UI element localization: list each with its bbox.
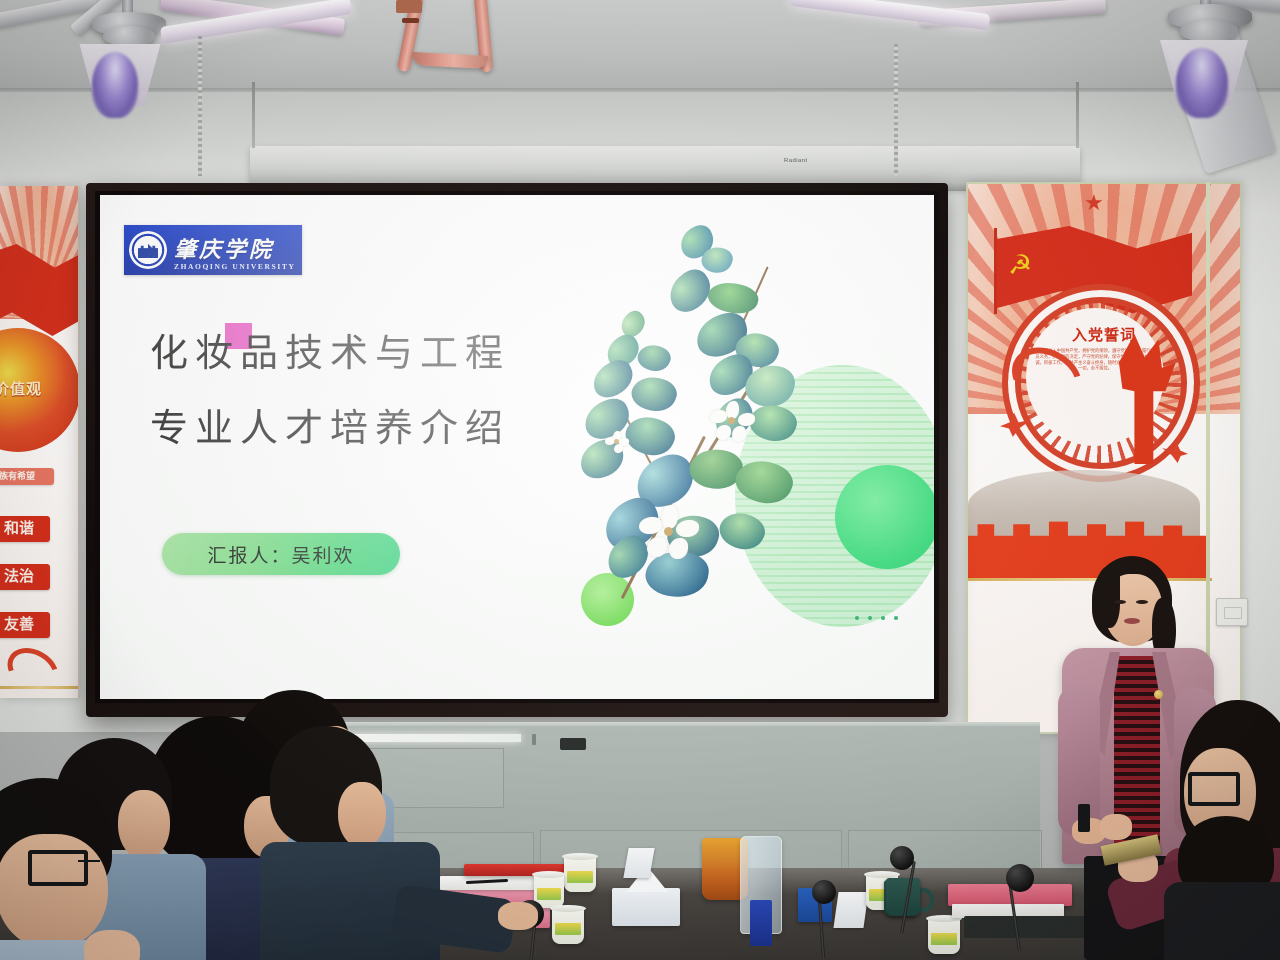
presenter-eye-right <box>1136 600 1148 604</box>
attendee-glasses-bridge <box>78 860 100 862</box>
art-dot <box>855 616 859 620</box>
flower-petal <box>639 517 662 534</box>
notepad <box>440 876 536 890</box>
attendee-glasses <box>1188 772 1240 806</box>
paper-cup <box>928 918 960 954</box>
name-card <box>623 848 654 878</box>
presenter-eye-left <box>1114 600 1126 604</box>
flower-petal <box>614 444 623 453</box>
cabinet-sensor <box>560 738 586 750</box>
poster-gold-line <box>968 578 1212 581</box>
slide-title-line-2: 专业人才培养介绍 <box>150 409 580 447</box>
hanging-chain-left <box>198 36 202 176</box>
fan-light-glow <box>1176 48 1228 118</box>
botanical-artwork <box>550 205 930 685</box>
poster-gold-line <box>0 686 78 689</box>
cup-rim <box>550 905 586 912</box>
pipe-bracket <box>396 0 422 13</box>
mic-head <box>1006 864 1034 892</box>
university-seal-icon <box>129 231 167 269</box>
attendee-glasses <box>28 850 88 886</box>
art-leaf <box>634 340 674 377</box>
flower-petal <box>676 520 699 537</box>
university-name-en: ZHAOQING UNIVERSITY <box>174 262 295 271</box>
laptop-base <box>964 916 1090 938</box>
cup-rim <box>532 871 566 878</box>
classroom-presentation-photo: Radiant 价值观 族有希望 和谐 法治 友善 ★ ☭ 入党誓词 我志愿加入… <box>0 0 1280 960</box>
flower-center <box>664 527 673 536</box>
pipe-clamp <box>402 18 419 23</box>
presenter-pill-text: 汇报人：吴利欢 <box>207 541 354 568</box>
attendee-hand <box>84 930 140 960</box>
cup-rim <box>562 853 598 860</box>
poster-subtext: 族有希望 <box>0 468 54 485</box>
presenter-lapel-pin <box>1154 690 1163 699</box>
presentation-slide: 肇庆学院 ZHAOQING UNIVERSITY 化妆品技术与工程 专业人才培养… <box>100 195 934 699</box>
screen-mount-left <box>252 82 255 148</box>
poster-flag-pole <box>994 228 997 314</box>
art-blob-small <box>581 573 634 626</box>
mic-head <box>812 880 836 904</box>
attendee-body <box>1164 882 1280 960</box>
presenter-hand-right <box>1100 814 1132 840</box>
cabinet-latch <box>532 734 536 745</box>
poster-badge-harmony: 和谐 <box>0 516 50 542</box>
fan-motor <box>1180 20 1238 42</box>
hanging-chain-right <box>894 44 898 176</box>
attendee-hand <box>498 902 538 930</box>
flower-petal <box>732 426 746 442</box>
attendee-face <box>338 782 386 848</box>
poster-cloud-motif <box>0 639 66 698</box>
presenter-hair-side <box>1094 566 1120 628</box>
slide-title-line-1: 化妆品技术与工程 <box>150 334 580 372</box>
bottle-cap <box>750 900 772 946</box>
flower-petal <box>710 410 727 423</box>
art-dot <box>868 616 872 620</box>
presenter-clicker <box>1078 804 1090 832</box>
flower-center <box>614 439 619 444</box>
poster-oath-title: 入党誓词 <box>968 324 1240 345</box>
name-card <box>833 892 868 928</box>
tissue-box <box>612 888 680 926</box>
flower-petal <box>647 537 667 557</box>
mic-head <box>890 846 914 870</box>
paper-cup <box>552 908 584 944</box>
flower-petal <box>661 505 678 529</box>
art-dot-row <box>855 616 898 620</box>
art-flower-lower <box>642 505 696 559</box>
poster-badge-friendship: 友善 <box>0 612 50 638</box>
hammer-sickle-icon: ☭ <box>1008 252 1032 279</box>
art-dot <box>881 616 885 620</box>
poster-core-socialist-values: 价值观 族有希望 和谐 法治 友善 <box>0 186 80 698</box>
screen-brand-label: Radiant <box>784 158 807 163</box>
presenter-pill: 汇报人：吴利欢 <box>162 533 400 575</box>
university-name-cn: 肇庆学院 <box>174 239 274 261</box>
university-logo: 肇庆学院 ZHAOQING UNIVERSITY <box>124 225 302 275</box>
flower-petal <box>716 425 731 440</box>
paper-cup <box>564 856 596 892</box>
art-flower-small <box>606 431 628 453</box>
poster-badge-ruleoflaw: 法治 <box>0 564 50 590</box>
fan-light-glow <box>92 52 138 118</box>
flower-center <box>728 417 735 424</box>
wall-socket <box>1216 598 1248 626</box>
art-flower-upper <box>712 401 752 441</box>
art-leaf <box>628 371 681 418</box>
art-dot <box>894 616 898 620</box>
projection-board: 肇庆学院 ZHAOQING UNIVERSITY 化妆品技术与工程 专业人才培养… <box>86 183 948 717</box>
poster-star-icon: ★ <box>1084 190 1104 216</box>
fan-motor <box>103 26 155 46</box>
attendee-face <box>118 790 170 860</box>
wall-trim-strip <box>1206 182 1210 702</box>
screen-mount-right <box>1076 82 1079 148</box>
art-blob-green <box>835 465 934 569</box>
flower-petal <box>669 538 688 559</box>
poster-core-text: 价值观 <box>0 378 42 399</box>
presenter-mouth <box>1124 618 1140 624</box>
